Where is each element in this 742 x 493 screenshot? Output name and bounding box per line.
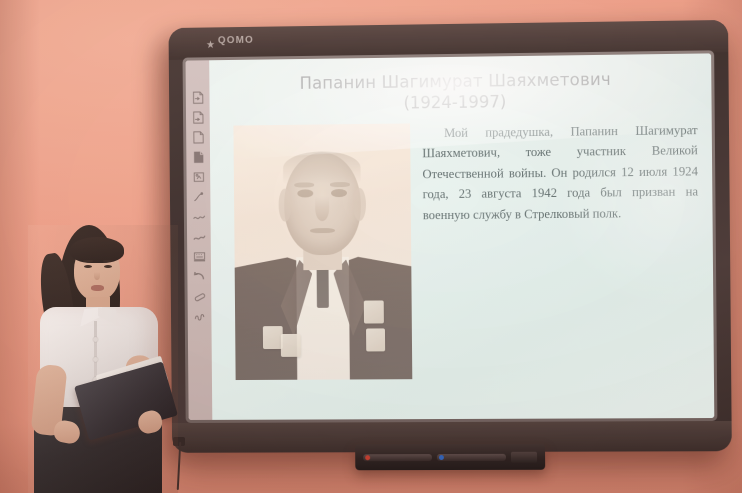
curve-tool-icon[interactable] xyxy=(192,309,207,324)
blank-page-icon[interactable] xyxy=(191,130,206,145)
tray-eraser[interactable] xyxy=(511,451,537,462)
presentation-slide[interactable]: Папанин Шагимурат Шаяхметович (1924-1997… xyxy=(209,53,714,420)
screen-frame: Папанин Шагимурат Шаяхметович (1924-1997… xyxy=(183,50,718,423)
brand-logo: QOMO xyxy=(206,35,254,47)
undo-arrow-icon[interactable] xyxy=(192,269,207,284)
select-tool-icon[interactable] xyxy=(191,170,206,185)
screen[interactable]: Папанин Шагимурат Шаяхметович (1924-1997… xyxy=(186,53,715,420)
duplicate-page-icon[interactable] xyxy=(190,110,205,125)
highlighter-icon[interactable] xyxy=(191,229,206,244)
keyboard-icon[interactable] xyxy=(192,249,207,264)
slide-body-text: Мой прадедушка, Папанин Шагимурат Шаяхме… xyxy=(422,120,698,225)
pen-thin-icon[interactable] xyxy=(191,189,206,204)
pen-tray[interactable] xyxy=(355,444,545,471)
board-toolbar[interactable] xyxy=(186,60,213,420)
eraser-icon[interactable] xyxy=(192,289,207,304)
interactive-whiteboard[interactable]: QOMO xyxy=(169,20,732,453)
stylus-blue[interactable] xyxy=(437,453,506,460)
veteran-portrait-photo xyxy=(233,123,412,380)
classroom-scene: QOMO xyxy=(0,0,742,493)
stylus-red[interactable] xyxy=(363,454,432,461)
filled-page-icon[interactable] xyxy=(191,150,206,165)
pen-squiggle-icon[interactable] xyxy=(191,209,206,224)
brand-name: QOMO xyxy=(218,35,254,46)
star-emblem-icon xyxy=(206,36,215,45)
hair-fringe xyxy=(70,237,124,263)
new-page-icon[interactable] xyxy=(190,90,205,105)
student-presenter xyxy=(28,225,178,493)
